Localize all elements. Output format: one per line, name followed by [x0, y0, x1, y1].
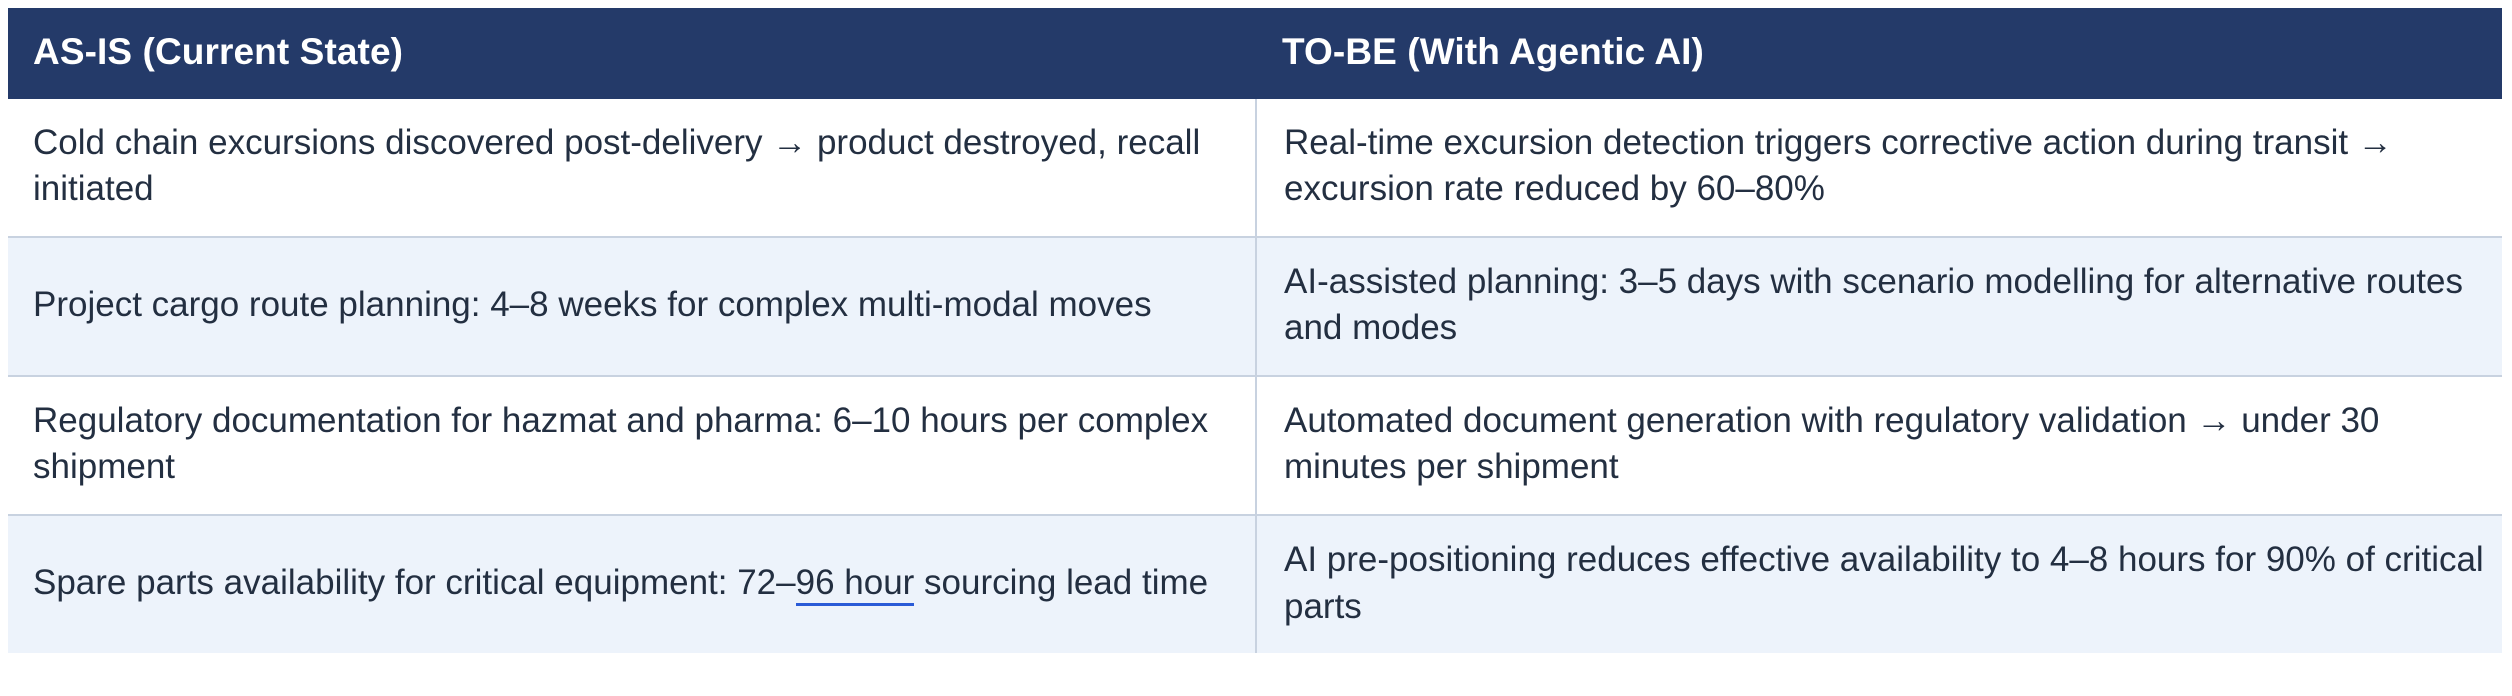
- cell-to-be-1: Real-time excursion detection triggers c…: [1256, 99, 2502, 237]
- cell-as-is-4-tail-text: sourcing lead time: [914, 563, 1208, 602]
- cell-as-is-4: Spare parts availability for critical eq…: [8, 515, 1256, 653]
- cell-as-is-2: Project cargo route planning: 4–8 weeks …: [8, 237, 1256, 376]
- table-row: Project cargo route planning: 4–8 weeks …: [8, 237, 2502, 376]
- column-header-to-be: TO-BE (With Agentic AI): [1256, 8, 2502, 99]
- cell-as-is-3: Regulatory documentation for hazmat and …: [8, 376, 1256, 515]
- cell-to-be-3: Automated document generation with regul…: [1256, 376, 2502, 515]
- column-header-as-is: AS-IS (Current State): [8, 8, 1256, 99]
- table-body: Cold chain excursions discovered post-de…: [8, 99, 2502, 653]
- cell-as-is-1: Cold chain excursions discovered post-de…: [8, 99, 1256, 237]
- cell-to-be-2: AI-assisted planning: 3–5 days with scen…: [1256, 237, 2502, 376]
- as-is-to-be-comparison-table: AS-IS (Current State) TO-BE (With Agenti…: [8, 8, 2502, 653]
- table-header-row: AS-IS (Current State) TO-BE (With Agenti…: [8, 8, 2502, 99]
- cell-to-be-4: AI pre-positioning reduces effective ava…: [1256, 515, 2502, 653]
- table-row: Spare parts availability for critical eq…: [8, 515, 2502, 653]
- table-row: Regulatory documentation for hazmat and …: [8, 376, 2502, 515]
- table-header: AS-IS (Current State) TO-BE (With Agenti…: [8, 8, 2502, 99]
- cell-as-is-4-lead-text: Spare parts availability for critical eq…: [33, 563, 796, 602]
- table-row: Cold chain excursions discovered post-de…: [8, 99, 2502, 237]
- spellcheck-underlined-text[interactable]: 96 hour: [796, 563, 915, 606]
